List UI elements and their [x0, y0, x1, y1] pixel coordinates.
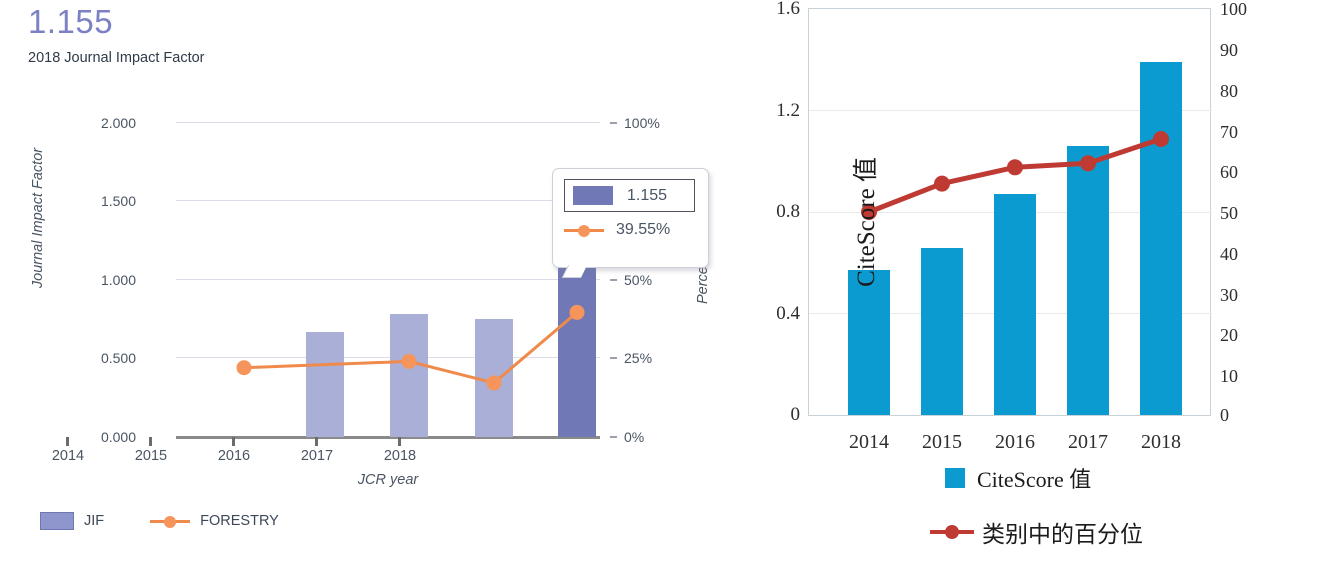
y2-tick-label: 50%	[624, 272, 684, 288]
x-tick-mark	[232, 437, 235, 446]
y2-tick-label: 25%	[624, 350, 684, 366]
y-tick-label: 1.500	[56, 193, 136, 209]
y2-tick-label: 10	[1220, 366, 1264, 387]
point-2015[interactable]	[934, 176, 950, 192]
point-2017[interactable]	[1080, 155, 1096, 171]
y-tick-label: 1.6	[740, 0, 800, 20]
y2-tick-label: 100	[1220, 0, 1264, 20]
point-2015[interactable]	[237, 360, 252, 375]
x-tick-label-2018: 2018	[1116, 431, 1206, 454]
y-tick-label: 0	[740, 404, 800, 426]
y-tick-label: 2.000	[56, 115, 136, 131]
x-tick-mark	[149, 437, 152, 446]
y2-tick-label: 80	[1220, 81, 1264, 102]
y2-tick-mark	[610, 357, 617, 359]
x-tick-label-2015: 2015	[111, 448, 191, 464]
point-2018[interactable]	[570, 305, 585, 320]
percentile-polyline	[869, 139, 1161, 212]
legend-item-jif[interactable]: JIF	[40, 512, 104, 530]
y2-tick-label: 60	[1220, 162, 1264, 183]
legend-label-forestry: FORESTRY	[200, 513, 279, 529]
tooltip-line-row: 39.55%	[564, 221, 670, 239]
y-axis-title: CiteScore 值	[846, 72, 882, 372]
y2-tick-label: 20	[1220, 325, 1264, 346]
y-tick-label: 1.000	[56, 272, 136, 288]
jcr-impact-factor-panel: 1.155 2018 Journal Impact Factor 2.000 1…	[0, 0, 740, 565]
citescore-chart: 2014 2015 2016 2017 2018 CiteScore 值 类别中…	[808, 8, 1211, 416]
y-tick-label: 1.2	[740, 100, 800, 122]
y2-tick-label: 100%	[624, 115, 684, 131]
y2-tick-label: 30	[1220, 285, 1264, 306]
y2-tick-mark	[610, 122, 617, 124]
y2-tick-mark	[610, 436, 617, 438]
y2-tick-label: 0%	[624, 429, 684, 445]
legend-label-jif: JIF	[84, 513, 104, 529]
tooltip-bar-value: 1.155	[627, 187, 667, 205]
citescore-panel: 2014 2015 2016 2017 2018 CiteScore 值 类别中…	[740, 0, 1338, 565]
y2-tick-mark	[610, 279, 617, 281]
point-2016[interactable]	[402, 354, 417, 369]
y-axis-title: Journal Impact Factor	[30, 118, 46, 318]
percentile-line-icon	[930, 523, 974, 541]
y2-tick-label: 40	[1220, 244, 1264, 265]
point-2017[interactable]	[487, 375, 502, 390]
tooltip-bar-swatch	[573, 186, 613, 205]
jif-swatch-icon	[40, 512, 74, 530]
legend-item-percentile[interactable]: 类别中的百分位	[930, 515, 1143, 549]
legend-label-citescore: CiteScore 值	[977, 462, 1091, 494]
citescore-swatch-icon	[945, 468, 965, 488]
percentile-line-series	[176, 122, 600, 437]
x-axis-title: JCR year	[176, 472, 600, 488]
x-tick-label-2017: 2017	[277, 448, 357, 464]
y-tick-label: 0.8	[740, 201, 800, 223]
y-tick-label: 0.4	[740, 303, 800, 325]
point-2018[interactable]	[1153, 131, 1169, 147]
y2-tick-label: 90	[1220, 40, 1264, 61]
legend-item-citescore[interactable]: CiteScore 值	[945, 462, 1091, 494]
x-tick-label-2018: 2018	[360, 448, 440, 464]
y2-tick-label: 0	[1220, 405, 1264, 426]
x-tick-mark	[398, 437, 401, 446]
tooltip-line-swatch	[564, 222, 604, 238]
x-tick-label-2016: 2016	[194, 448, 274, 464]
tooltip-bar-row: 1.155	[564, 179, 695, 212]
x-tick-mark	[315, 437, 318, 446]
y-tick-label: 0.500	[56, 350, 136, 366]
point-2016[interactable]	[1007, 159, 1023, 175]
legend-item-forestry[interactable]: FORESTRY	[150, 513, 279, 529]
jcr-legend: JIF FORESTRY	[40, 512, 315, 530]
forestry-line-icon	[150, 513, 190, 529]
y2-tick-label: 50	[1220, 203, 1264, 224]
tooltip-line-value: 39.55%	[616, 221, 670, 239]
percentile-polyline	[244, 312, 577, 383]
chart-tooltip[interactable]: 1.155 39.55%	[552, 168, 709, 268]
x-tick-mark	[66, 437, 69, 446]
jcr-chart: 2.000 1.500 1.000 0.500 0.000 100% 50% 2…	[0, 0, 740, 500]
x-tick-label-2014: 2014	[28, 448, 108, 464]
y2-tick-label: 70	[1220, 122, 1264, 143]
legend-label-percentile: 类别中的百分位	[982, 515, 1143, 549]
